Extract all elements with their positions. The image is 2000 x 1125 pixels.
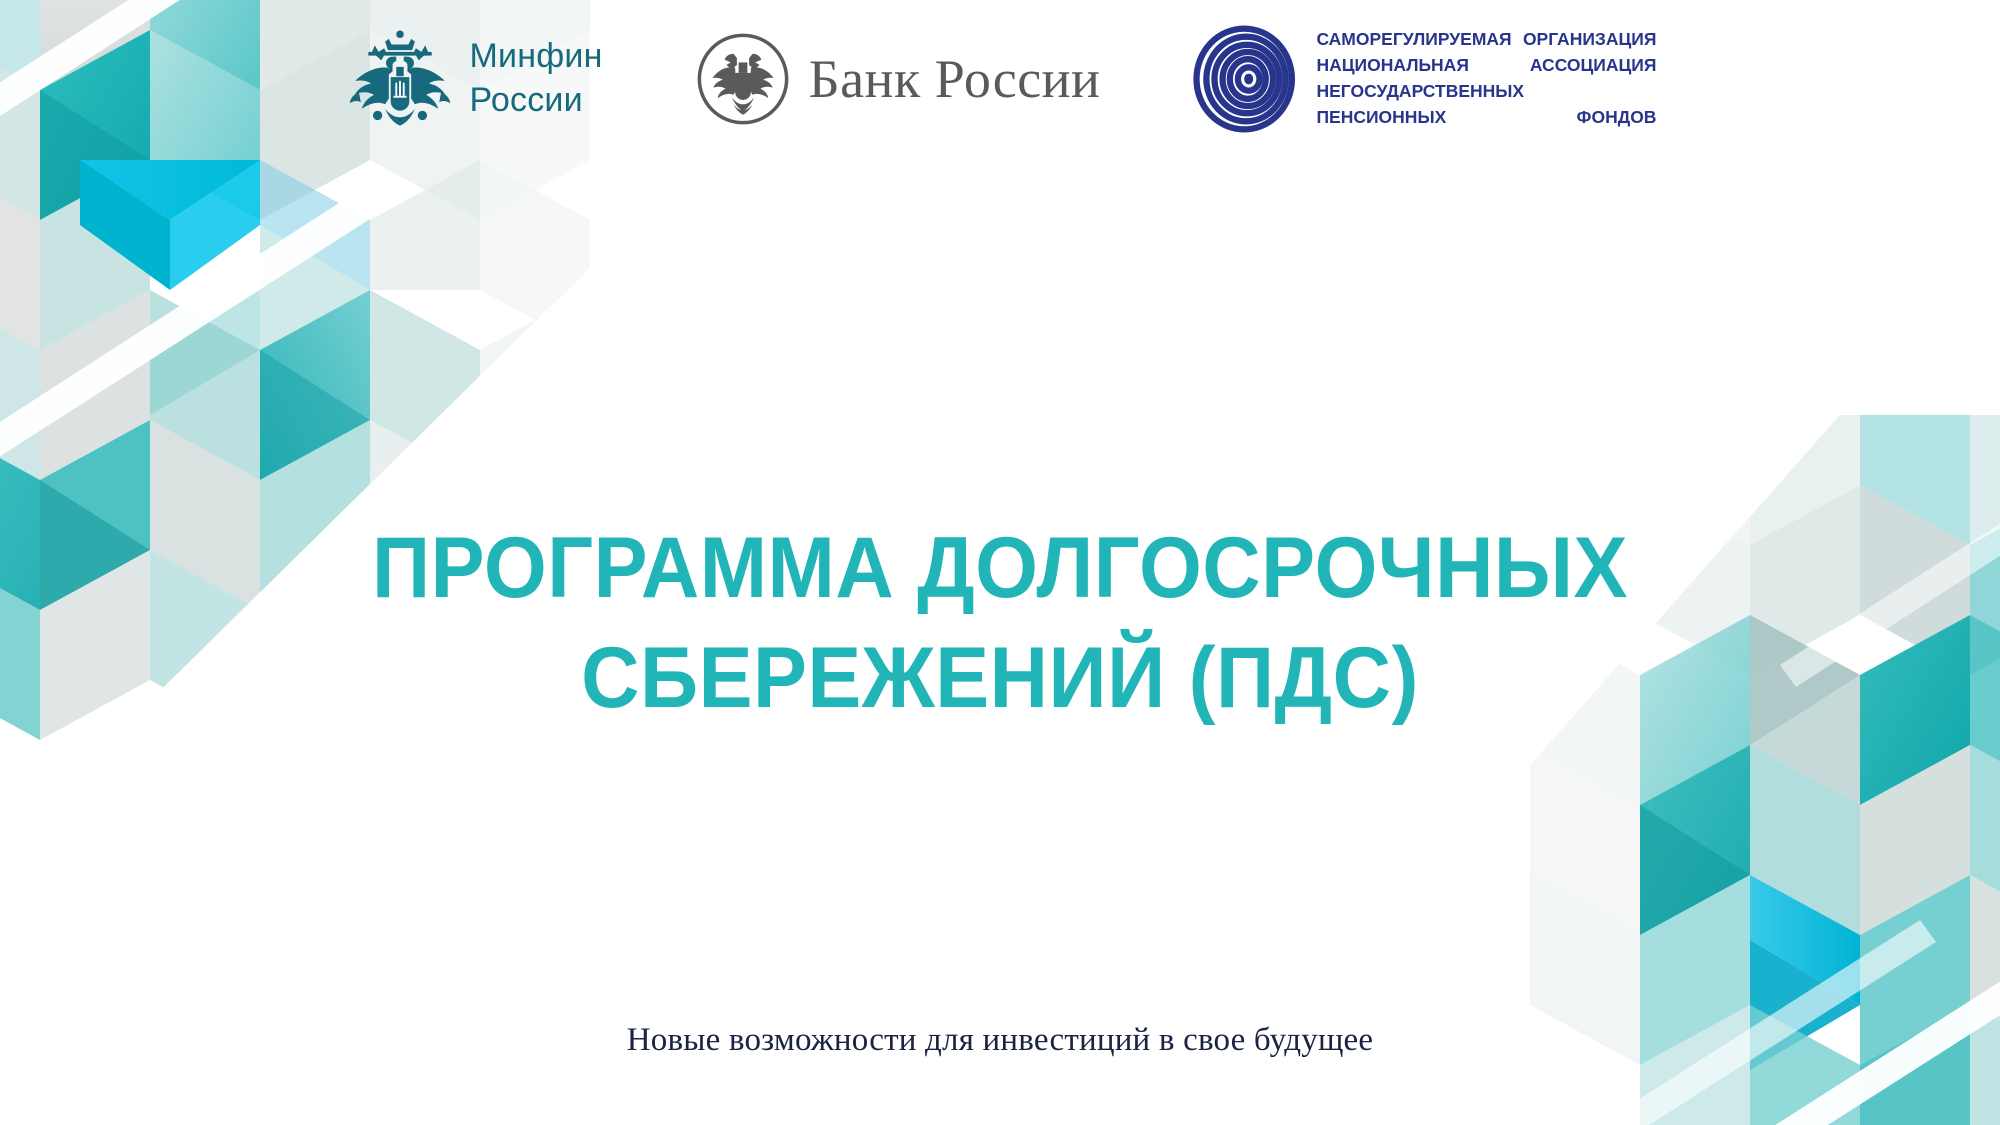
logo-bank-of-russia-wordmark: Банк России [809,48,1101,110]
page-title: ПРОГРАММА ДОЛГОСРОЧНЫХ СБЕРЕЖЕНИЙ (ПДС) [250,513,1750,733]
logo-minfin: Минфин России [344,23,603,135]
logo-napf-line4: ПЕНСИОННЫХ ФОНДОВ [1316,105,1656,131]
logo-napf-wordmark: САМОРЕГУЛИРУЕМАЯ ОРГАНИЗАЦИЯ НАЦИОНАЛЬНА… [1316,27,1656,131]
logo-minfin-wordmark: Минфин России [470,35,603,122]
page-title-line1: ПРОГРАММА ДОЛГОСРОЧНЫХ [295,513,1705,623]
double-headed-eagle-icon [344,23,456,135]
logo-napf: САМОРЕГУЛИРУЕМАЯ ОРГАНИЗАЦИЯ НАЦИОНАЛЬНА… [1192,25,1656,133]
logo-napf-line3: НЕГОСУДАРСТВЕННЫХ [1316,79,1656,105]
logo-bank-of-russia: Банк России [695,31,1101,127]
logo-minfin-line1: Минфин [470,37,603,75]
title-slide: Минфин России [0,0,2000,1125]
logo-napf-line2: НАЦИОНАЛЬНАЯ АССОЦИАЦИЯ [1316,53,1656,79]
page-title-line2: СБЕРЕЖЕНИЙ (ПДС) [295,623,1705,733]
logo-minfin-line2: России [470,81,583,119]
logo-band: Минфин России [0,14,2000,144]
concentric-spiral-icon [1192,25,1300,133]
circular-eagle-icon [695,31,791,127]
logo-napf-line1: САМОРЕГУЛИРУЕМАЯ ОРГАНИЗАЦИЯ [1316,27,1656,53]
page-subtitle: Новые возможности для инвестиций в свое … [300,1022,1700,1059]
